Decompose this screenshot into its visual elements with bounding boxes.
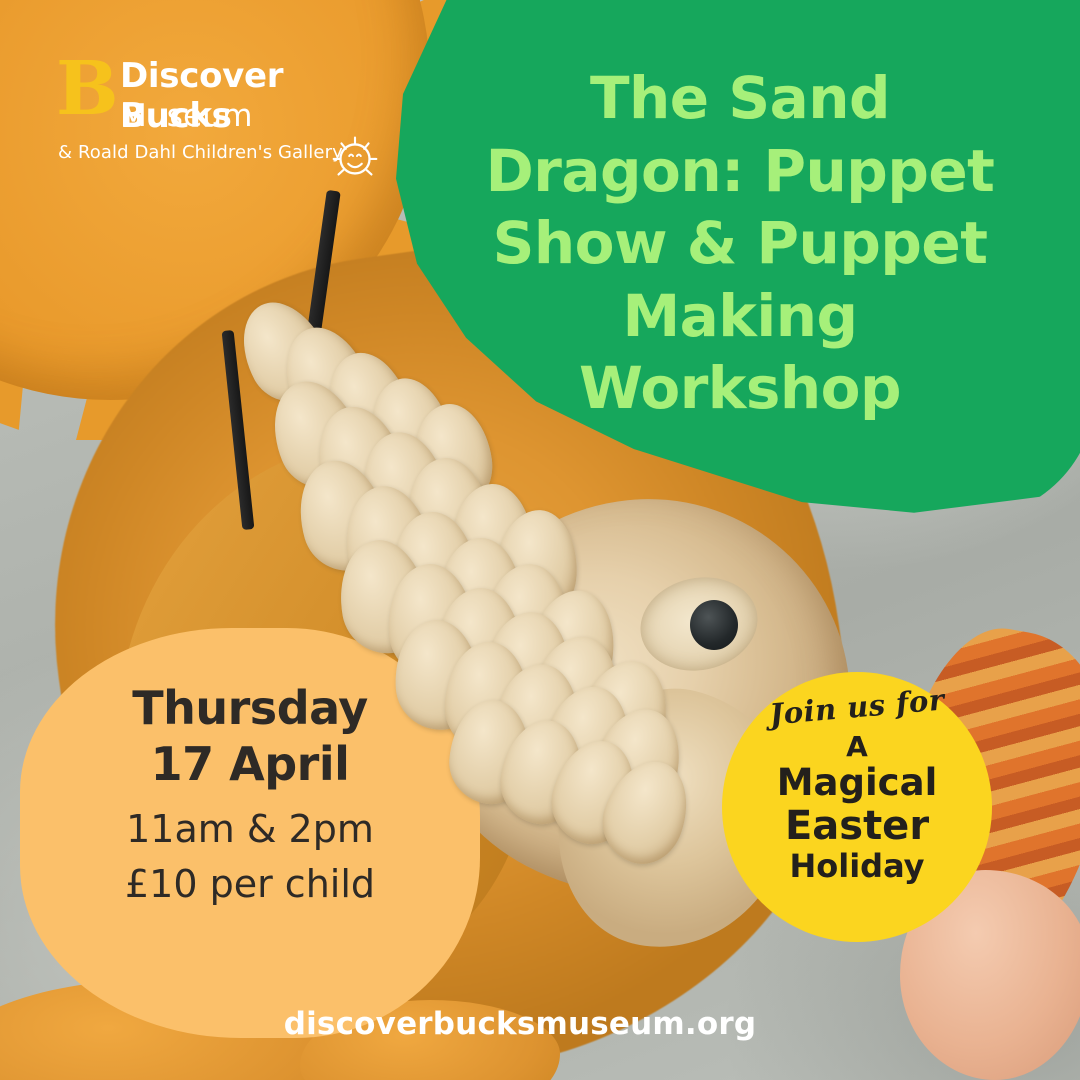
event-title-line-2: Dragon: Puppet xyxy=(430,135,1050,208)
badge-a-line: A xyxy=(722,730,992,763)
event-title: The Sand Dragon: Puppet Show & Puppet Ma… xyxy=(430,62,1050,425)
event-title-line-5: Workshop xyxy=(430,352,1050,425)
badge-holiday-line: Holiday xyxy=(722,848,992,885)
event-title-line-1: The Sand xyxy=(430,62,1050,135)
logo-subtitle: Museum xyxy=(120,98,253,134)
event-day: Thursday xyxy=(55,680,445,736)
badge-magical-line: Magical xyxy=(722,763,992,804)
event-title-line-3: Show & Puppet xyxy=(430,207,1050,280)
sun-face-icon xyxy=(324,126,386,188)
event-details: Thursday 17 April 11am & 2pm £10 per chi… xyxy=(55,680,445,912)
event-times: 11am & 2pm xyxy=(55,802,445,857)
event-date: 17 April xyxy=(55,736,445,792)
event-price: £10 per child xyxy=(55,857,445,912)
event-title-line-4: Making xyxy=(430,280,1050,353)
museum-logo[interactable]: B Discover Bucks Museum & Roald Dahl Chi… xyxy=(56,48,396,168)
logo-monogram: B xyxy=(56,52,119,126)
website-url[interactable]: discoverbucksmuseum.org xyxy=(0,1006,1080,1042)
logo-tagline: & Roald Dahl Children's Gallery xyxy=(58,142,343,163)
event-poster: B Discover Bucks Museum & Roald Dahl Chi… xyxy=(0,0,1080,1080)
dragon-pupil xyxy=(690,600,738,650)
easter-badge-text: Join us for A Magical Easter Holiday xyxy=(722,690,992,885)
badge-easter-line: Easter xyxy=(722,804,992,849)
